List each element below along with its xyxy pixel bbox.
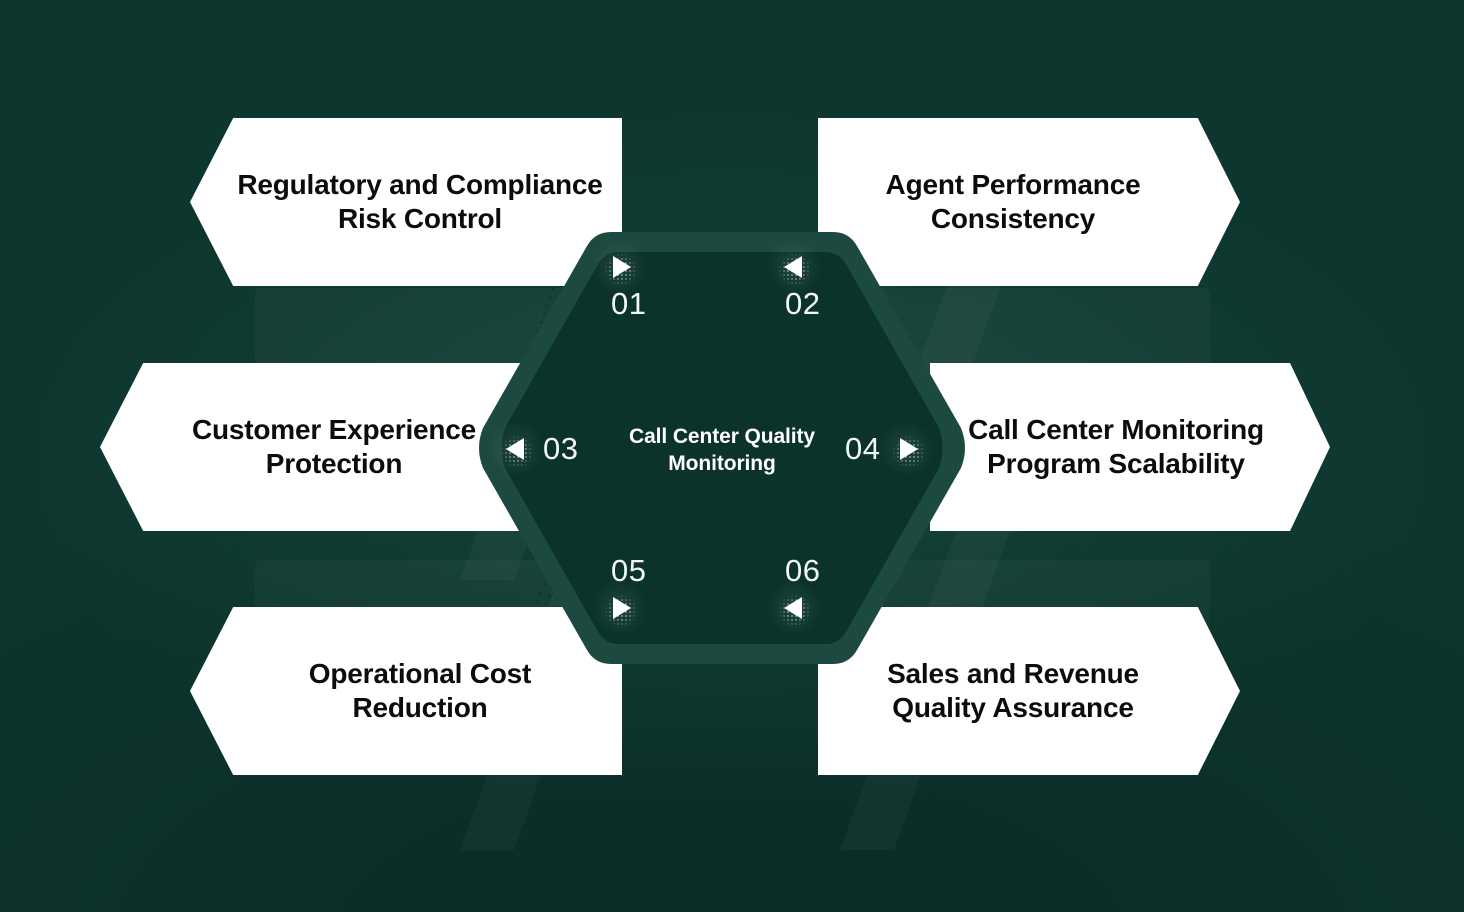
hex-node-01[interactable]: 01 [603, 250, 646, 322]
triangle-glyph [900, 438, 918, 460]
hex-node-06[interactable]: 06 [777, 553, 820, 625]
triangle-glyph [784, 256, 802, 278]
triangle-glyph [784, 597, 802, 619]
node-card-03-line1: Customer Experience [192, 413, 476, 447]
node-card-03-text: Customer Experience Protection [178, 413, 490, 481]
hex-node-03[interactable]: 03 [499, 431, 578, 467]
node-card-04-line1: Call Center Monitoring [968, 413, 1264, 447]
infographic-canvas: Regulatory and Compliance Risk Control A… [0, 0, 1464, 912]
triangle-glyph [613, 256, 631, 278]
hex-node-02[interactable]: 02 [777, 250, 820, 322]
node-card-01-text: Regulatory and Compliance Risk Control [223, 168, 616, 236]
node-card-02-text: Agent Performance Consistency [872, 168, 1155, 236]
triangle-left-icon [777, 591, 811, 625]
center-title: Call Center Quality Monitoring [592, 424, 852, 478]
triangle-right-icon [603, 250, 637, 284]
triangle-left-icon [777, 250, 811, 284]
node-card-01-line1: Regulatory and Compliance [237, 168, 602, 202]
node-card-03[interactable]: Customer Experience Protection [100, 363, 532, 531]
node-card-06-line2: Quality Assurance [887, 691, 1139, 725]
center-hexagon: 01 02 03 [477, 228, 967, 668]
hexagon-content: 01 02 03 [477, 228, 967, 668]
node-card-04-line2: Program Scalability [968, 447, 1264, 481]
center-title-line2: Monitoring [592, 451, 852, 478]
triangle-right-icon [890, 432, 924, 466]
node-card-04-text: Call Center Monitoring Program Scalabili… [954, 413, 1278, 481]
triangle-glyph [506, 438, 524, 460]
node-card-02-line1: Agent Performance [886, 168, 1141, 202]
triangle-left-icon [499, 432, 533, 466]
hex-node-03-number: 03 [543, 431, 578, 467]
center-title-line1: Call Center Quality [592, 424, 852, 451]
node-card-04[interactable]: Call Center Monitoring Program Scalabili… [930, 363, 1330, 531]
hex-node-04[interactable]: 04 [845, 431, 924, 467]
triangle-right-icon [603, 591, 637, 625]
node-card-03-line2: Protection [192, 447, 476, 481]
triangle-glyph [613, 597, 631, 619]
hex-node-05[interactable]: 05 [603, 553, 646, 625]
node-card-05-line2: Reduction [309, 691, 531, 725]
